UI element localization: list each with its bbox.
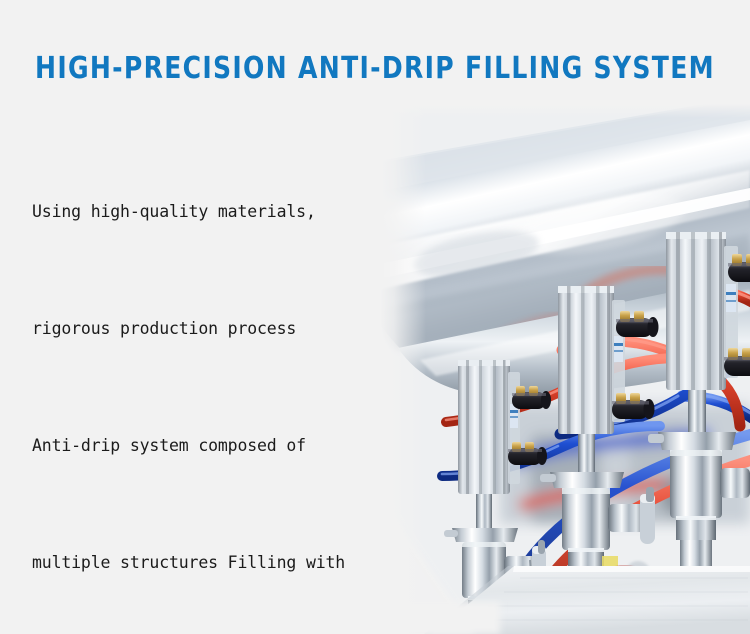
description-line: Anti-drip system composed of <box>32 426 407 465</box>
description-line: rigorous production process <box>32 309 407 348</box>
description-line: multiple structures Filling with <box>32 543 407 582</box>
product-feature-banner: HIGH-PRECISION ANTI-DRIP FILLING SYSTEM … <box>0 0 750 634</box>
description-paragraph-1: Using high-quality materials, rigorous p… <box>32 114 407 634</box>
feature-description: Using high-quality materials, rigorous p… <box>32 114 407 634</box>
description-line: Using high-quality materials, <box>32 192 407 231</box>
page-title: HIGH-PRECISION ANTI-DRIP FILLING SYSTEM <box>26 52 724 86</box>
filling-machine-photo <box>380 104 750 634</box>
